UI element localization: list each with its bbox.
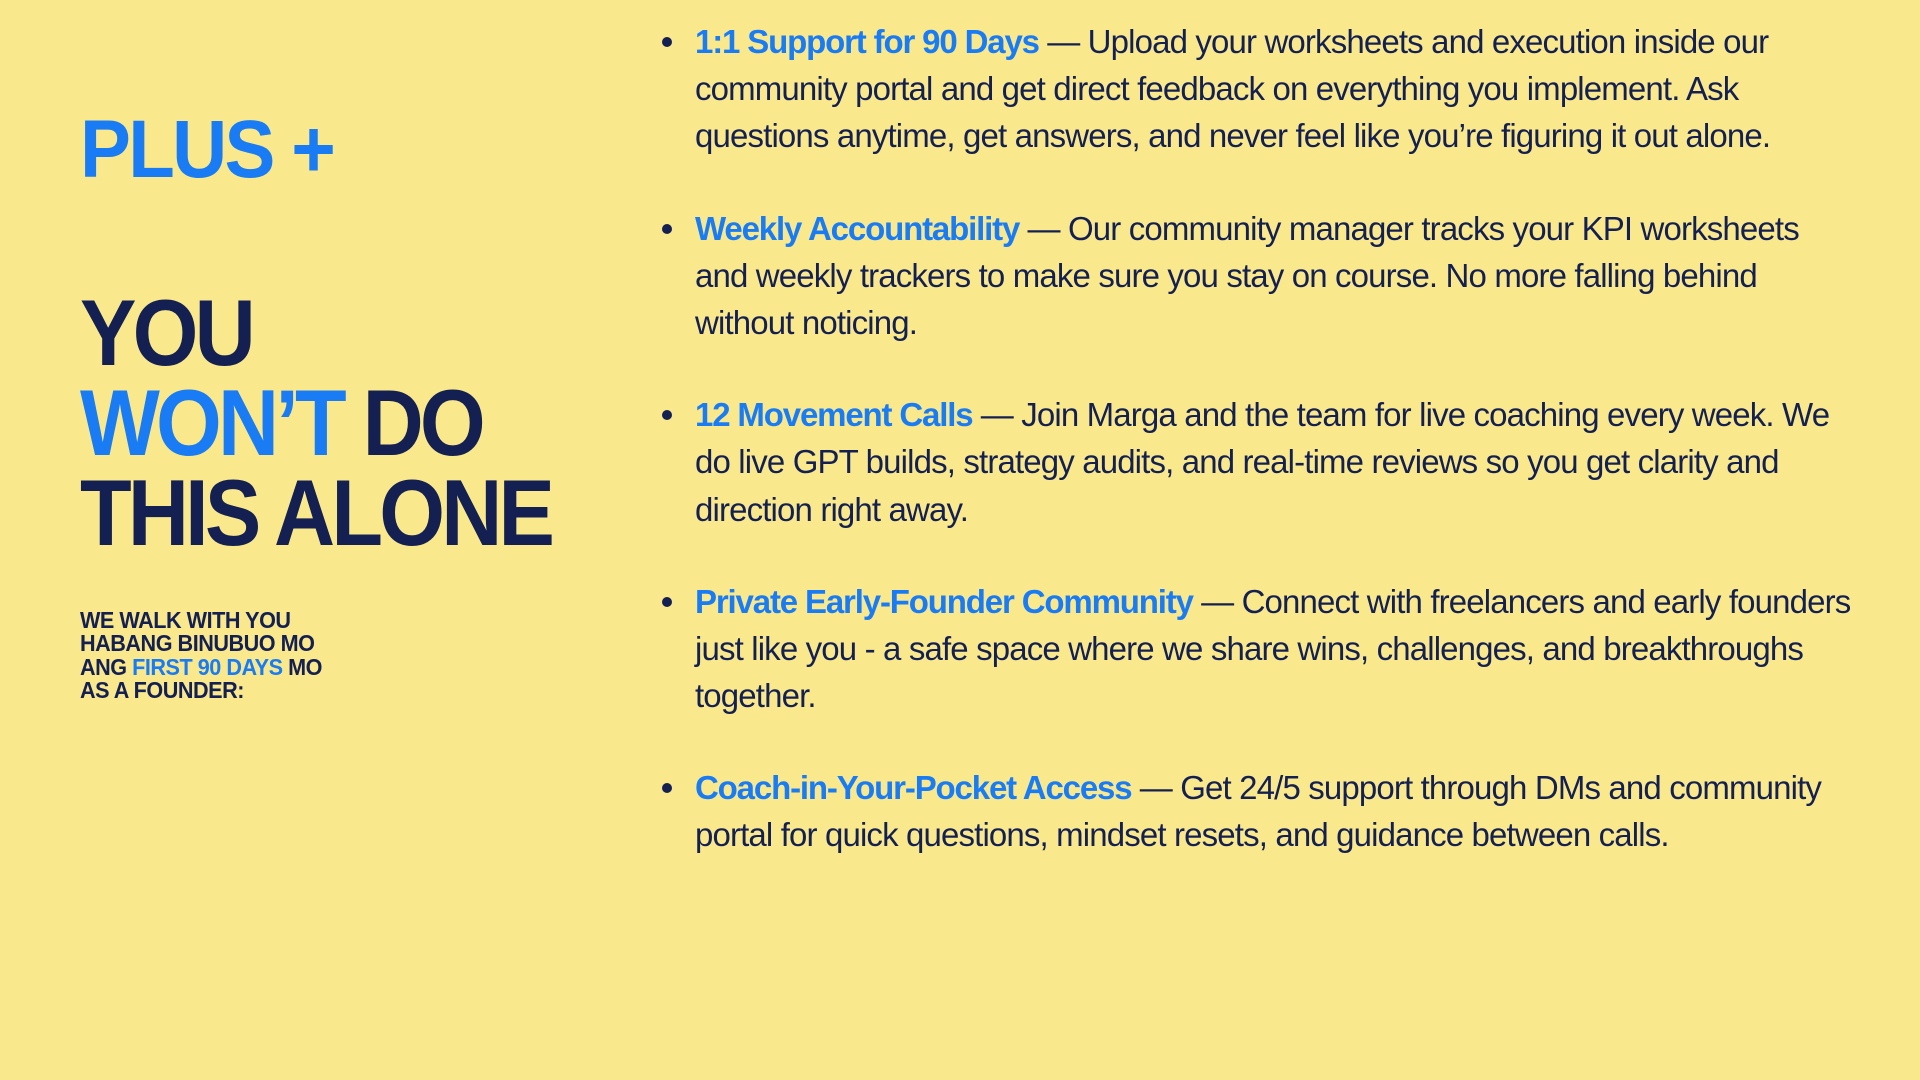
subheading-line-3-pre: ANG <box>80 654 127 680</box>
plus-label: PLUS + <box>80 112 333 187</box>
headline-line-3: THIS ALONE <box>80 468 551 558</box>
page-title: YOU WON’T DO THIS ALONE <box>80 288 551 557</box>
subheading-line-1: WE WALK WITH YOU <box>80 609 322 632</box>
list-item: 1:1 Support for 90 Days — Upload your wo… <box>640 18 1855 160</box>
list-item: Coach-in-Your-Pocket Access — Get 24/5 s… <box>640 764 1855 858</box>
bullet-dot-icon <box>662 597 672 607</box>
bullet-dot-icon <box>662 224 672 234</box>
list-item-term: 12 Movement Calls <box>695 396 972 433</box>
benefits-list: 1:1 Support for 90 Days — Upload your wo… <box>640 18 1890 859</box>
list-item: 12 Movement Calls — Join Marga and the t… <box>640 391 1855 533</box>
subheading-line-4: AS A FOUNDER: <box>80 679 322 702</box>
list-item-term: Private Early-Founder Community <box>695 583 1193 620</box>
headline-line-2: WON’T DO <box>80 378 551 468</box>
subheading: WE WALK WITH YOU HABANG BINUBUO MO ANG F… <box>80 609 322 703</box>
subheading-line-3-post: MO <box>288 654 322 680</box>
headline-line-1: YOU <box>80 288 551 378</box>
slide-root: PLUS + YOU WON’T DO THIS ALONE WE WALK W… <box>0 0 1920 1080</box>
list-item: Private Early-Founder Community — Connec… <box>640 578 1855 720</box>
subheading-line-2: HABANG BINUBUO MO <box>80 632 322 655</box>
subheading-line-3: ANG FIRST 90 DAYS MO <box>80 656 322 679</box>
bullet-dot-icon <box>662 783 672 793</box>
subheading-line-3-highlight: FIRST 90 DAYS <box>132 654 282 680</box>
list-item-term: Weekly Accountability <box>695 210 1019 247</box>
left-column: PLUS + YOU WON’T DO THIS ALONE WE WALK W… <box>0 0 640 1080</box>
right-column: 1:1 Support for 90 Days — Upload your wo… <box>640 0 1920 1080</box>
list-item-term: 1:1 Support for 90 Days <box>695 23 1039 60</box>
list-item: Weekly Accountability — Our community ma… <box>640 205 1855 347</box>
bullet-dot-icon <box>662 37 672 47</box>
bullet-dot-icon <box>662 410 672 420</box>
list-item-term: Coach-in-Your-Pocket Access <box>695 769 1131 806</box>
